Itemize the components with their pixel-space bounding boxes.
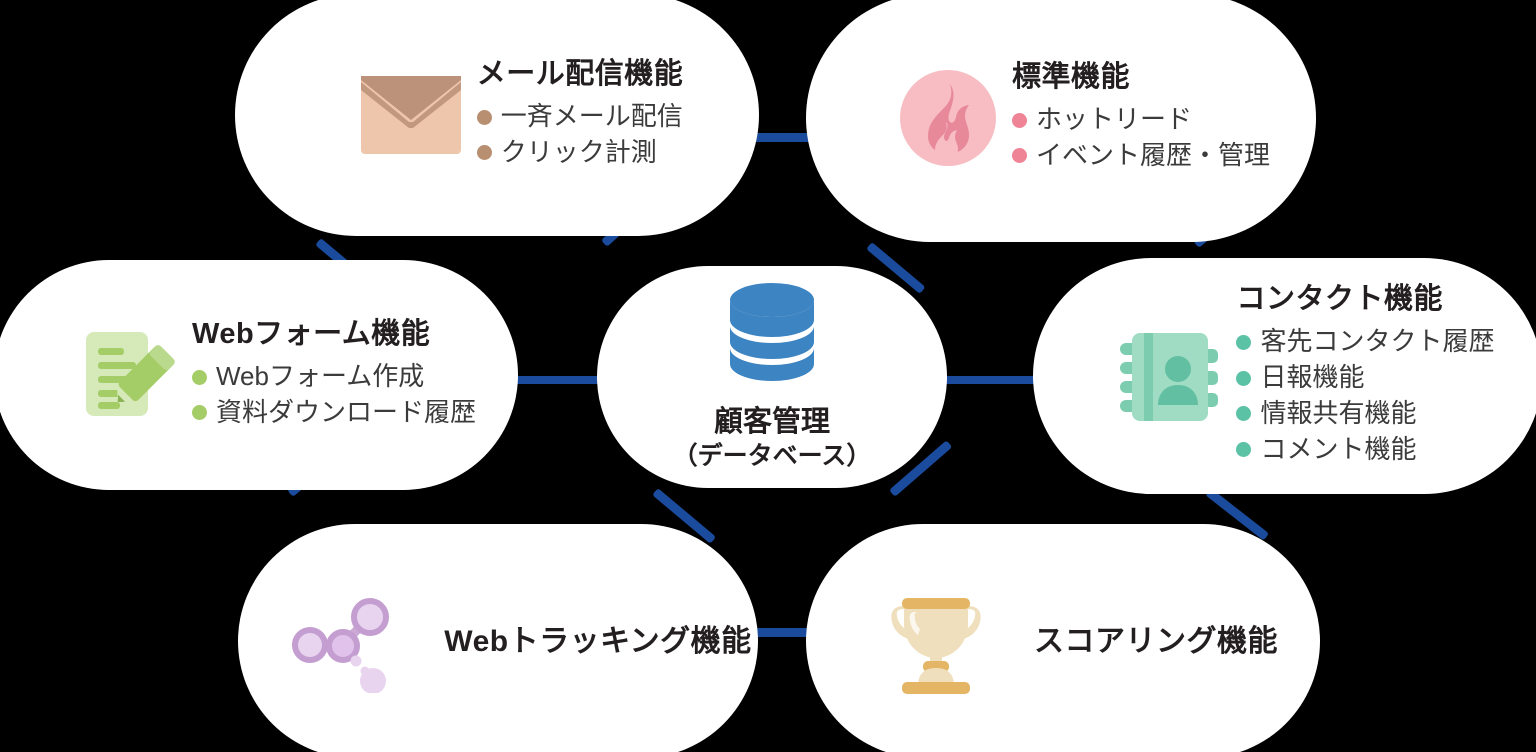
node-title: Webトラッキング機能	[444, 625, 751, 658]
node-web-tracking[interactable]: Webトラッキング機能	[238, 524, 758, 752]
bullet-dot	[477, 145, 492, 160]
list-item: イベント履歴・管理	[1012, 138, 1270, 174]
feature-list: 一斉メール配信 クリック計測	[477, 99, 684, 171]
list-item: コメント機能	[1236, 432, 1494, 468]
list-item: Webフォーム作成	[192, 359, 476, 395]
node-customer-management[interactable]: 顧客管理 （データベース）	[597, 266, 947, 488]
list-item-label: 日報機能	[1260, 360, 1364, 396]
list-item: 客先コンタクト履歴	[1236, 324, 1494, 360]
bullet-dot	[192, 370, 207, 385]
connector-tracking-to-scoring	[752, 628, 812, 637]
node-subtitle: （データベース）	[673, 441, 872, 472]
list-item-label: ホットリード	[1036, 102, 1192, 138]
node-webform[interactable]: Webフォーム機能 Webフォーム作成 資料ダウンロード履歴	[0, 260, 518, 490]
connector-mail-to-standard	[752, 133, 812, 142]
list-item-label: コメント機能	[1260, 432, 1416, 468]
envelope-icon	[361, 76, 461, 154]
diagram-canvas: メール配信機能 一斉メール配信 クリック計測	[0, 0, 1536, 752]
list-item-label: イベント履歴・管理	[1036, 138, 1270, 174]
list-item: 資料ダウンロード履歴	[192, 395, 476, 431]
node-title: メール配信機能	[477, 59, 684, 91]
trophy-icon	[890, 588, 982, 694]
bullet-dot	[1236, 335, 1251, 350]
feature-list: ホットリード イベント履歴・管理	[1012, 102, 1270, 174]
node-contact-features[interactable]: コンタクト機能 客先コンタクト履歴 日報機能 情報共有機能	[1033, 258, 1536, 494]
document-pencil-icon	[76, 326, 176, 424]
bullet-dot	[477, 110, 492, 125]
node-standard-features[interactable]: 標準機能 ホットリード イベント履歴・管理	[806, 0, 1316, 242]
share-network-icon	[286, 589, 390, 693]
bullet-dot	[1012, 113, 1027, 128]
list-item: 日報機能	[1236, 360, 1494, 396]
list-item: 一斉メール配信	[477, 99, 684, 135]
list-item-label: 情報共有機能	[1260, 396, 1416, 432]
flame-icon	[900, 70, 996, 166]
node-title: 標準機能	[1012, 62, 1270, 94]
list-item-label: 資料ダウンロード履歴	[216, 395, 476, 431]
node-title: スコアリング機能	[1034, 625, 1278, 658]
bullet-dot	[1012, 148, 1027, 163]
bullet-dot	[192, 405, 207, 420]
bullet-dot	[1236, 371, 1251, 386]
list-item-label: 客先コンタクト履歴	[1260, 324, 1494, 360]
list-item: クリック計測	[477, 135, 684, 171]
bullet-dot	[1236, 442, 1251, 457]
node-title: Webフォーム機能	[192, 319, 476, 351]
feature-list: 客先コンタクト履歴 日報機能 情報共有機能 コメント機能	[1236, 324, 1494, 468]
connector-webform-to-center	[512, 376, 604, 384]
bullet-dot	[1236, 406, 1251, 421]
list-item-label: Webフォーム作成	[216, 359, 424, 395]
connector-center-to-contact	[938, 376, 1038, 384]
node-title: 顧客管理	[714, 404, 830, 440]
node-scoring[interactable]: スコアリング機能	[806, 524, 1320, 752]
address-book-icon	[1116, 323, 1220, 429]
list-item: 情報共有機能	[1236, 396, 1494, 432]
node-title: コンタクト機能	[1236, 284, 1494, 316]
list-item: ホットリード	[1012, 102, 1270, 138]
database-icon	[728, 282, 816, 386]
list-item-label: 一斉メール配信	[501, 99, 683, 135]
list-item-label: クリック計測	[501, 135, 657, 171]
node-mail-delivery[interactable]: メール配信機能 一斉メール配信 クリック計測	[235, 0, 759, 236]
feature-list: Webフォーム作成 資料ダウンロード履歴	[192, 359, 476, 431]
